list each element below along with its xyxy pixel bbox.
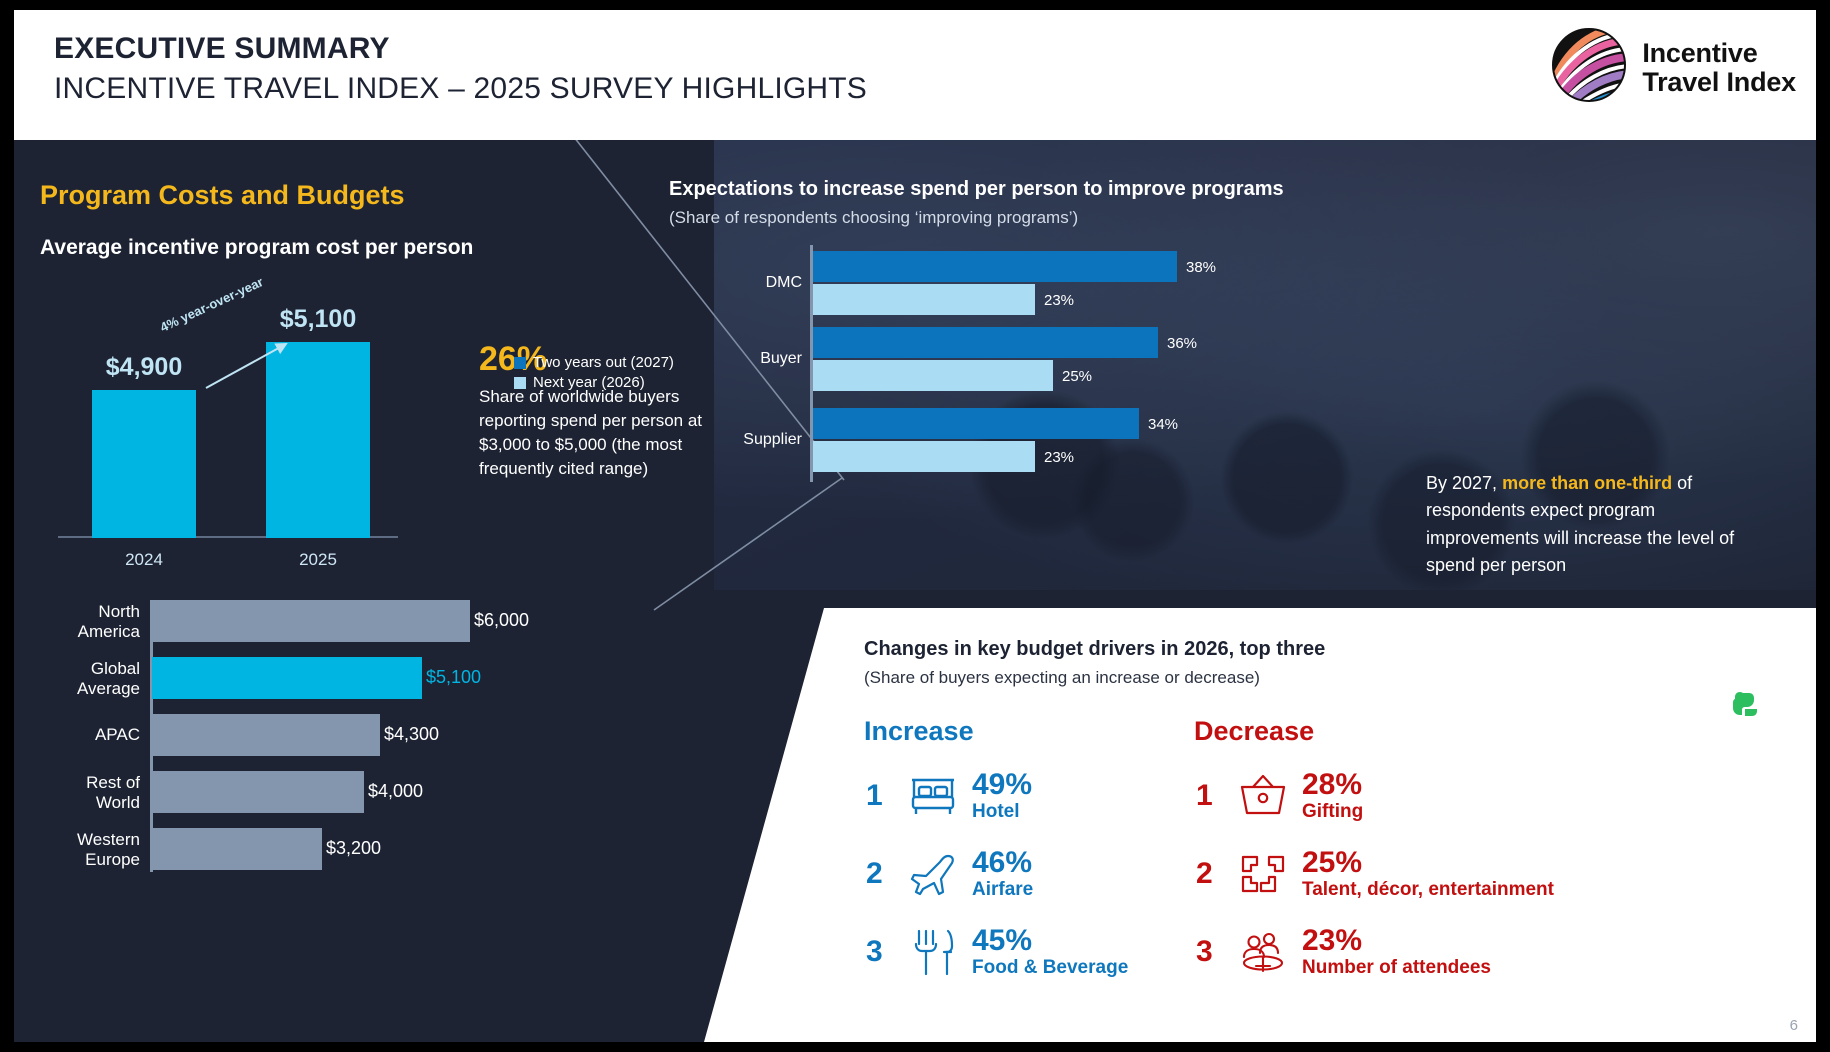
region-bar-highlight — [152, 657, 422, 699]
bed-icon — [902, 768, 964, 824]
decrease-label-3: Number of attendees — [1302, 957, 1491, 979]
cost-per-person-bar-chart: $4,900 2024 $5,100 2025 4% year-over-yea… — [44, 290, 404, 570]
expectations-chart-subtitle: (Share of respondents choosing ‘improvin… — [669, 208, 1078, 228]
region-value: $4,000 — [368, 781, 423, 802]
increase-column-heading: Increase — [864, 716, 974, 747]
group-bar-2026-supplier — [813, 441, 1035, 472]
slide: EXECUTIVE SUMMARY INCENTIVE TRAVEL INDEX… — [14, 10, 1816, 1042]
decrease-rank-3: 3 — [1196, 935, 1232, 969]
bar-2024-value: $4,900 — [74, 353, 214, 382]
evernote-elephant-icon — [1732, 690, 1758, 723]
bar-2024 — [92, 390, 196, 538]
logo-line-2: Travel Index — [1642, 68, 1796, 97]
group-category-supplier: Supplier — [714, 431, 802, 449]
region-row: APAC $4,300 — [42, 714, 602, 756]
bar-2025-category: 2025 — [258, 550, 378, 570]
bar-2025-value: $5,100 — [248, 305, 388, 334]
globe-stripes-logo-icon — [1550, 26, 1628, 109]
region-label: Western Europe — [42, 830, 140, 869]
cost-chart-title: Average incentive program cost per perso… — [40, 236, 473, 260]
decrease-pct-1: 28% — [1302, 769, 1363, 801]
region-label: APAC — [42, 725, 140, 745]
region-bar — [152, 828, 322, 870]
increase-item-3: 3 45% Food & Beverage — [866, 924, 1128, 980]
page-subtitle: INCENTIVE TRAVEL INDEX – 2025 SURVEY HIG… — [54, 72, 867, 106]
decrease-label-2: Talent, décor, entertainment — [1302, 879, 1554, 901]
legend-swatch-2026 — [514, 377, 526, 389]
expectations-grouped-bar-chart: DMC 38% 23% Buyer 36% 25% Supplier 34% 2… — [714, 245, 1234, 485]
group-value-2027-dmc: 38% — [1186, 259, 1216, 276]
region-bar — [152, 714, 380, 756]
gift-basket-icon — [1232, 768, 1294, 824]
stage-spotlight-icon — [1232, 846, 1294, 902]
increase-label-1: Hotel — [972, 801, 1032, 823]
decrease-item-3: 3 23% Number of attendees — [1196, 924, 1491, 980]
group-bar-2027-dmc — [813, 251, 1177, 282]
legend-label-2026: Next year (2026) — [533, 374, 645, 391]
airplane-icon — [902, 846, 964, 902]
decrease-rank-1: 1 — [1196, 779, 1232, 813]
slide-header: EXECUTIVE SUMMARY INCENTIVE TRAVEL INDEX… — [14, 10, 1816, 140]
region-cost-bar-chart: North America $6,000 Global Average $5,1… — [42, 600, 602, 900]
increase-item-1: 1 49% Hotel — [866, 768, 1032, 824]
group-value-2027-buyer: 36% — [1167, 335, 1197, 352]
increase-rank-2: 2 — [866, 857, 902, 891]
decrease-rank-2: 2 — [1196, 857, 1232, 891]
group-value-2027-supplier: 34% — [1148, 416, 1178, 433]
decrease-pct-3: 23% — [1302, 925, 1491, 957]
decrease-pct-2: 25% — [1302, 847, 1554, 879]
growth-arrow-icon — [204, 336, 304, 396]
region-row: Rest of World $4,000 — [42, 771, 602, 813]
group-bar-2027-buyer — [813, 327, 1158, 358]
group-category-dmc: DMC — [714, 274, 802, 292]
section-title: Program Costs and Budgets — [40, 180, 405, 211]
people-group-icon — [1232, 924, 1294, 980]
increase-item-2: 2 46% Airfare — [866, 846, 1033, 902]
expectations-chart-title: Expectations to increase spend per perso… — [669, 178, 1284, 201]
side-note-highlight: more than one-third — [1502, 473, 1672, 493]
increase-pct-2: 46% — [972, 847, 1033, 879]
group-value-2026-supplier: 23% — [1044, 449, 1074, 466]
legend-item: Next year (2026) — [514, 374, 674, 391]
page-number: 6 — [1790, 1017, 1798, 1034]
legend-swatch-2027 — [514, 357, 526, 369]
logo-wordmark: Incentive Travel Index — [1642, 39, 1796, 96]
group-category-buyer: Buyer — [714, 350, 802, 368]
increase-label-3: Food & Beverage — [972, 957, 1128, 979]
region-value: $6,000 — [474, 610, 529, 631]
increase-rank-3: 3 — [866, 935, 902, 969]
group-bar-2027-supplier — [813, 408, 1139, 439]
region-label: Rest of World — [42, 773, 140, 812]
increase-pct-3: 45% — [972, 925, 1128, 957]
increase-rank-1: 1 — [866, 779, 902, 813]
fork-knife-icon — [902, 924, 964, 980]
region-row: North America $6,000 — [42, 600, 602, 642]
region-label: Global Average — [42, 659, 140, 698]
side-note-pre: By 2027, — [1426, 473, 1502, 493]
region-value: $5,100 — [426, 667, 481, 688]
region-bar — [152, 600, 470, 642]
region-value: $4,300 — [384, 724, 439, 745]
budget-drivers-panel: Changes in key budget drivers in 2026, t… — [704, 608, 1816, 1042]
slide-body: Program Costs and Budgets Average incent… — [14, 140, 1816, 1042]
bar-2024-category: 2024 — [84, 550, 204, 570]
group-value-2026-dmc: 23% — [1044, 292, 1074, 309]
decrease-item-2: 2 25% Talent, décor, entertainment — [1196, 846, 1554, 902]
budget-drivers-title: Changes in key budget drivers in 2026, t… — [864, 638, 1325, 661]
region-row: Global Average $5,100 — [42, 657, 602, 699]
region-label: North America — [42, 602, 140, 641]
brand-logo: Incentive Travel Index — [1550, 26, 1796, 109]
group-value-2026-buyer: 25% — [1062, 368, 1092, 385]
decrease-label-1: Gifting — [1302, 801, 1363, 823]
increase-label-2: Airfare — [972, 879, 1033, 901]
legend-label-2027: Two years out (2027) — [533, 354, 674, 371]
page-title: EXECUTIVE SUMMARY — [54, 32, 390, 66]
increase-pct-1: 49% — [972, 769, 1032, 801]
expectations-chart-legend: Two years out (2027) Next year (2026) — [514, 354, 674, 394]
budget-drivers-subtitle: (Share of buyers expecting an increase o… — [864, 668, 1260, 688]
group-bar-2026-buyer — [813, 360, 1053, 391]
decrease-column-heading: Decrease — [1194, 716, 1314, 747]
region-row: Western Europe $3,200 — [42, 828, 602, 870]
legend-item: Two years out (2027) — [514, 354, 674, 371]
region-value: $3,200 — [326, 838, 381, 859]
region-bar — [152, 771, 364, 813]
callout-description: Share of worldwide buyers reporting spen… — [479, 385, 739, 482]
logo-line-1: Incentive — [1642, 39, 1796, 68]
decrease-item-1: 1 28% Gifting — [1196, 768, 1363, 824]
expectations-side-note: By 2027, more than one-third of responde… — [1426, 470, 1756, 579]
group-bar-2026-dmc — [813, 284, 1035, 315]
